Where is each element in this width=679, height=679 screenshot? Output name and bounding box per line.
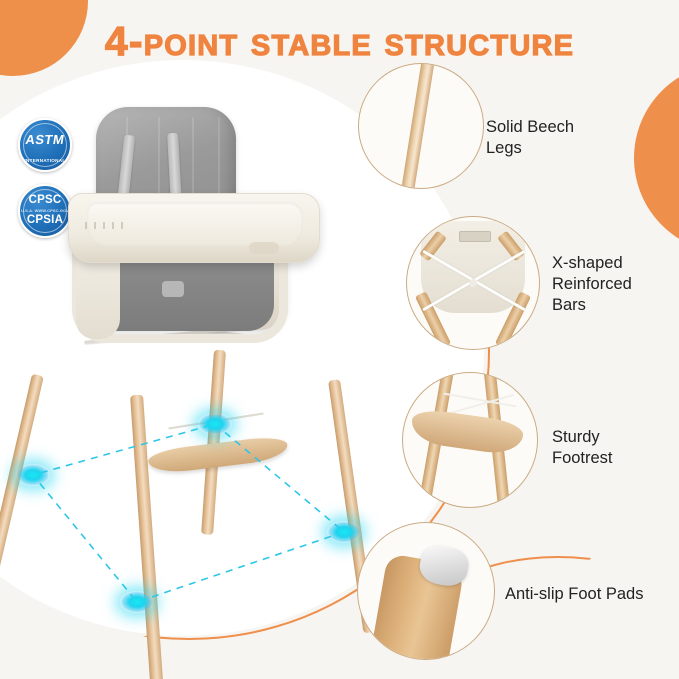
feature-label-line2: Legs (486, 138, 636, 159)
tray-adjust-slots (85, 222, 129, 229)
feature-label-anti-slip-foot-pads: Anti-slip Foot Pads (505, 584, 679, 605)
beech-leg-closeup (399, 63, 437, 189)
x-bar-hub (469, 279, 477, 287)
chair-leg-back-left (130, 395, 165, 679)
feature-label-x-shaped-bars: X-shaped Reinforced Bars (552, 253, 679, 316)
high-chair-product-image (18, 95, 358, 625)
infographic-canvas: 4-Point Stable Structure ASTM INTERNATIO… (0, 0, 679, 679)
detail-circle-anti-slip-foot-pads (357, 522, 495, 660)
feature-label-sturdy-footrest: Sturdy Footrest (552, 427, 679, 469)
feature-label-line3: Bars (552, 295, 679, 316)
detail-circle-x-shaped-bars (406, 216, 540, 350)
feature-label-line1: Solid Beech (486, 117, 636, 138)
decor-circle-right (634, 63, 679, 253)
feature-label-line2: Reinforced (552, 274, 679, 295)
page-title: 4-Point Stable Structure (0, 17, 679, 65)
chair-tray (68, 193, 320, 263)
detail-circle-sturdy-footrest (402, 372, 538, 508)
feature-label-solid-beech-legs: Solid Beech Legs (486, 117, 636, 159)
feature-label-line1: Anti-slip Foot Pads (505, 584, 679, 605)
feature-label-line1: Sturdy (552, 427, 679, 448)
feature-label-line1: X-shaped (552, 253, 679, 274)
detail-circle-solid-beech-legs (358, 63, 484, 189)
brand-logo (249, 242, 279, 254)
footrest-board (409, 407, 525, 456)
feature-label-line2: Footrest (552, 448, 679, 469)
underside-slot (459, 231, 491, 242)
